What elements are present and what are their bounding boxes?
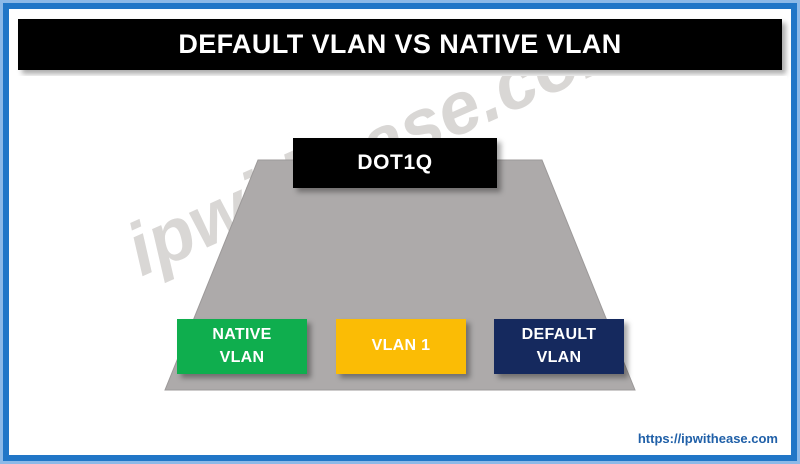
- title-banner: DEFAULT VLAN VS NATIVE VLAN: [18, 19, 782, 70]
- dot1q-label: DOT1Q: [357, 151, 432, 175]
- vlan-1-label: VLAN 1: [372, 335, 431, 358]
- native-vlan-box: NATIVE VLAN: [177, 319, 307, 374]
- footer-url[interactable]: https://ipwithease.com: [638, 431, 778, 446]
- slide-canvas: DEFAULT VLAN VS NATIVE VLAN ipwithease.c…: [0, 0, 800, 464]
- diagram-area: ipwithease.com DOT1Q NATIVE VLAN VLAN 1 …: [13, 76, 787, 414]
- native-vlan-label: NATIVE VLAN: [212, 324, 271, 369]
- dot1q-box: DOT1Q: [293, 138, 497, 188]
- default-vlan-box: DEFAULT VLAN: [494, 319, 624, 374]
- default-vlan-label: DEFAULT VLAN: [522, 324, 597, 369]
- page-title: DEFAULT VLAN VS NATIVE VLAN: [178, 29, 621, 60]
- vlan-1-box: VLAN 1: [336, 319, 466, 374]
